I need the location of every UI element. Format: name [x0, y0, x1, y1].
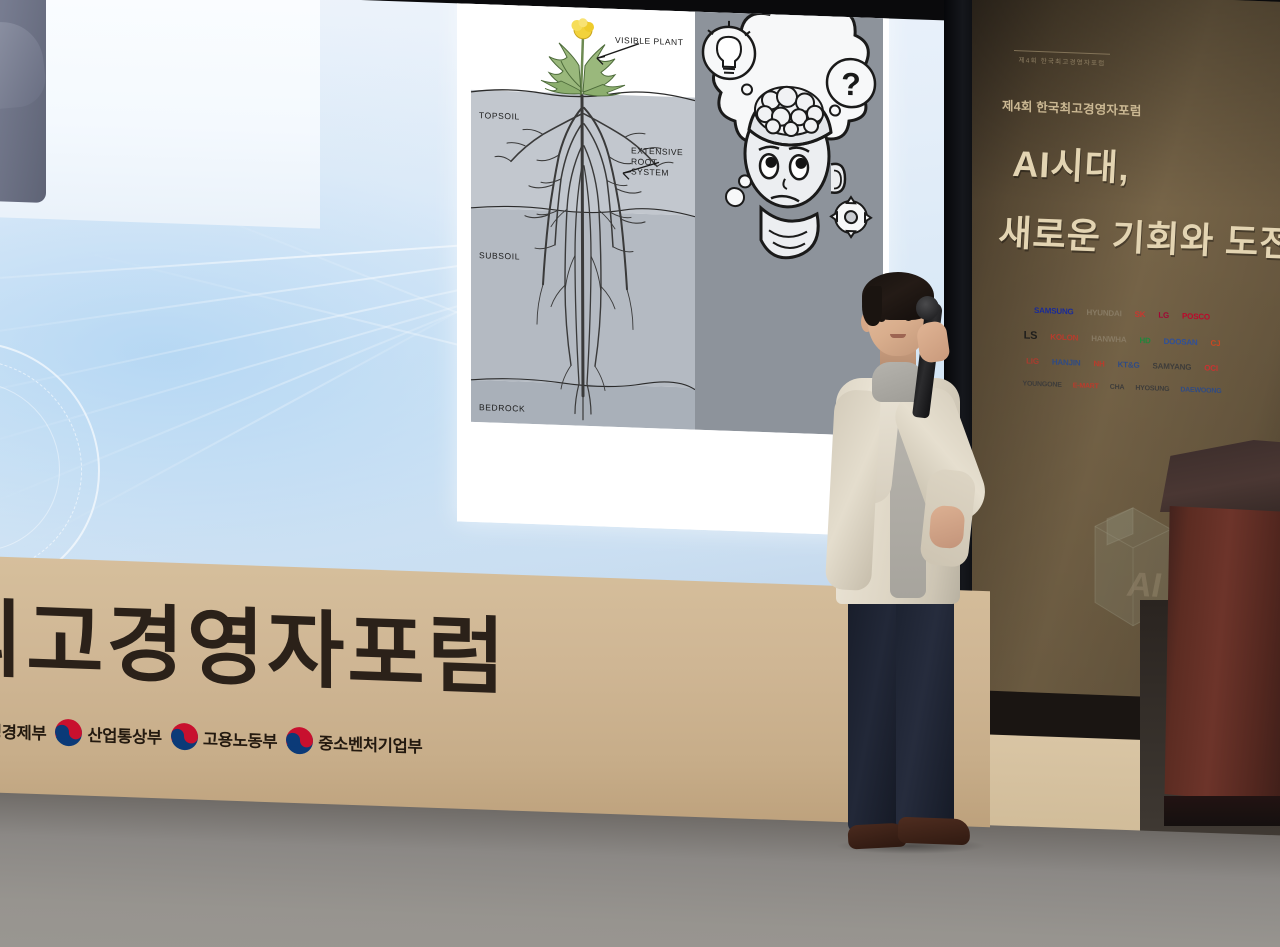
backdrop-headline-line1: AI시대, — [1011, 135, 1131, 191]
root-system-diagram: VISIBLE PLANT EXTENSIVE ROOT SYSTEM TOPS… — [463, 0, 695, 430]
sponsor-logo: HD — [1139, 335, 1150, 344]
sponsor-logo: SAMYANG — [1152, 361, 1191, 371]
podium-base — [1164, 796, 1280, 826]
speaker-legs — [844, 588, 956, 838]
sponsor-logo: LG — [1158, 311, 1169, 320]
sponsor-logo: CJ — [1211, 338, 1221, 347]
podium-top — [1160, 440, 1280, 512]
sponsor-logo: HYOSUNG — [1135, 385, 1169, 393]
ministry-label: 고용노동부 — [203, 725, 277, 752]
sponsor-logo: POSCO — [1182, 312, 1210, 322]
ministry-logo-row: 재정경제부 산업통상부 고용노동부 중소벤처기업부 — [0, 715, 422, 759]
sponsor-logo: SAMSUNG — [1034, 306, 1074, 317]
sponsor-logo: KOLON — [1050, 332, 1078, 342]
speaker-leg-right — [896, 588, 954, 828]
label-extensive-root-system: EXTENSIVE ROOT SYSTEM — [631, 145, 695, 179]
ministry-label: 중소벤처기업부 — [318, 729, 422, 757]
sponsor-logo: HANJIN — [1052, 358, 1081, 368]
label-topsoil: TOPSOIL — [479, 110, 520, 121]
sponsor-logo-grid: SAMSUNG HYUNDAI SK LG POSCO LS KOLON HAN… — [1012, 305, 1232, 410]
taegeuk-icon — [171, 723, 198, 751]
podium-lectern — [1160, 440, 1280, 840]
sponsor-row: YOUNGONE E-MART CHA HYOSUNG DAEWOONG — [1012, 380, 1232, 395]
speaker-hair-side — [862, 286, 882, 326]
ministry-label: 산업통상부 — [87, 721, 161, 748]
svg-text:?: ? — [841, 66, 861, 103]
sponsor-logo: LIG — [1026, 357, 1039, 366]
label-subsoil: SUBSOIL — [479, 250, 520, 261]
picture-in-picture-projection: CEO — [0, 0, 320, 229]
sponsor-logo: SK — [1135, 310, 1146, 319]
ministry-item: 중소벤처기업부 — [286, 727, 422, 759]
speaker-hand-upper — [915, 320, 950, 364]
ministry-label: 재정경제부 — [0, 717, 46, 744]
pip-person — [0, 0, 66, 229]
sponsor-row: LIG HANJIN NH KT&G SAMYANG OCI — [1012, 356, 1232, 373]
banner-title: 최고경영자포럼 — [0, 571, 508, 712]
dandelion-root-svg — [463, 0, 695, 430]
ministry-item: 산업통상부 — [55, 719, 161, 750]
speaker-hand-lower — [929, 505, 966, 549]
sponsor-logo: HANWHA — [1091, 334, 1126, 344]
sponsor-logo: OCI — [1204, 363, 1218, 373]
ministry-item: 재정경제부 — [0, 715, 46, 746]
conference-stage-scene: CEO — [0, 0, 1280, 947]
speaker-person — [806, 258, 1026, 858]
sponsor-logo: CHA — [1110, 384, 1125, 392]
label-bedrock: BEDROCK — [479, 402, 525, 414]
sponsor-logo: NH — [1093, 359, 1104, 368]
sponsor-logo: YOUNGONE — [1022, 380, 1061, 389]
sponsor-logo: DOOSAN — [1164, 336, 1198, 346]
taegeuk-icon — [55, 719, 82, 747]
podium-body — [1162, 506, 1280, 806]
sponsor-logo: HYUNDAI — [1087, 308, 1122, 318]
sponsor-logo: DAEWOONG — [1180, 386, 1221, 395]
sponsor-logo: KT&G — [1118, 360, 1140, 370]
speaker-mouth — [890, 334, 906, 338]
ministry-item: 고용노동부 — [171, 723, 277, 754]
sponsor-logo: E-MART — [1073, 382, 1099, 390]
taegeuk-icon — [286, 727, 313, 755]
speaker-shoe-right — [898, 817, 971, 845]
sponsor-row: LS KOLON HANWHA HD DOOSAN CJ — [1012, 329, 1232, 349]
